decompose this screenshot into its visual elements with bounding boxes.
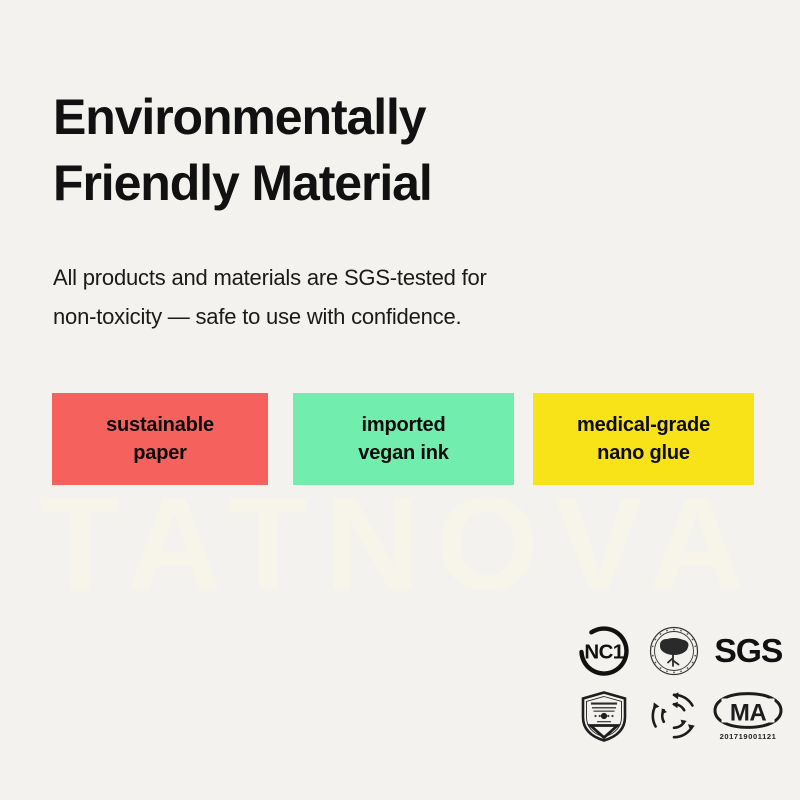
- shield-certification-icon: [572, 685, 636, 746]
- sgs-label: SGS: [714, 634, 782, 667]
- recycle-arrows-icon: [642, 685, 706, 746]
- material-tag-label-line-1: sustainable: [106, 411, 214, 439]
- material-tag-label-line-1: imported: [362, 411, 446, 439]
- cma-certificate-number: 201719001121: [720, 732, 777, 741]
- sgs-certification-icon: SGS: [712, 620, 784, 681]
- material-tag-row: sustainable paper imported vegan ink med…: [52, 393, 754, 485]
- certification-badge-grid: NC1: [572, 620, 784, 746]
- page-description-line-2: non-toxicity — safe to use with confiden…: [53, 297, 673, 336]
- page-title-line-2: Friendly Material: [53, 150, 743, 216]
- material-tag-medical-grade-nano-glue: medical-grade nano glue: [533, 393, 754, 485]
- nc1-certification-icon: NC1: [572, 620, 636, 681]
- page-title: Environmentally Friendly Material: [53, 84, 743, 216]
- material-tag-sustainable-paper: sustainable paper: [52, 393, 268, 485]
- cma-certification-icon: MA 201719001121: [712, 685, 784, 746]
- material-tag-label-line-2: vegan ink: [358, 439, 448, 467]
- page-description: All products and materials are SGS-teste…: [53, 258, 673, 336]
- brand-watermark: TATNOVA: [0, 478, 800, 610]
- material-tag-label-line-2: nano glue: [597, 439, 690, 467]
- poster-canvas: TATNOVA Environmentally Friendly Materia…: [0, 0, 800, 800]
- svg-text:NC1: NC1: [584, 640, 623, 663]
- page-description-line-1: All products and materials are SGS-teste…: [53, 258, 673, 297]
- svg-text:MA: MA: [730, 699, 766, 726]
- forest-tree-seal-icon: [642, 620, 706, 681]
- material-tag-imported-vegan-ink: imported vegan ink: [293, 393, 514, 485]
- material-tag-label-line-2: paper: [133, 439, 186, 467]
- material-tag-label-line-1: medical-grade: [577, 411, 710, 439]
- page-title-line-1: Environmentally: [53, 84, 743, 150]
